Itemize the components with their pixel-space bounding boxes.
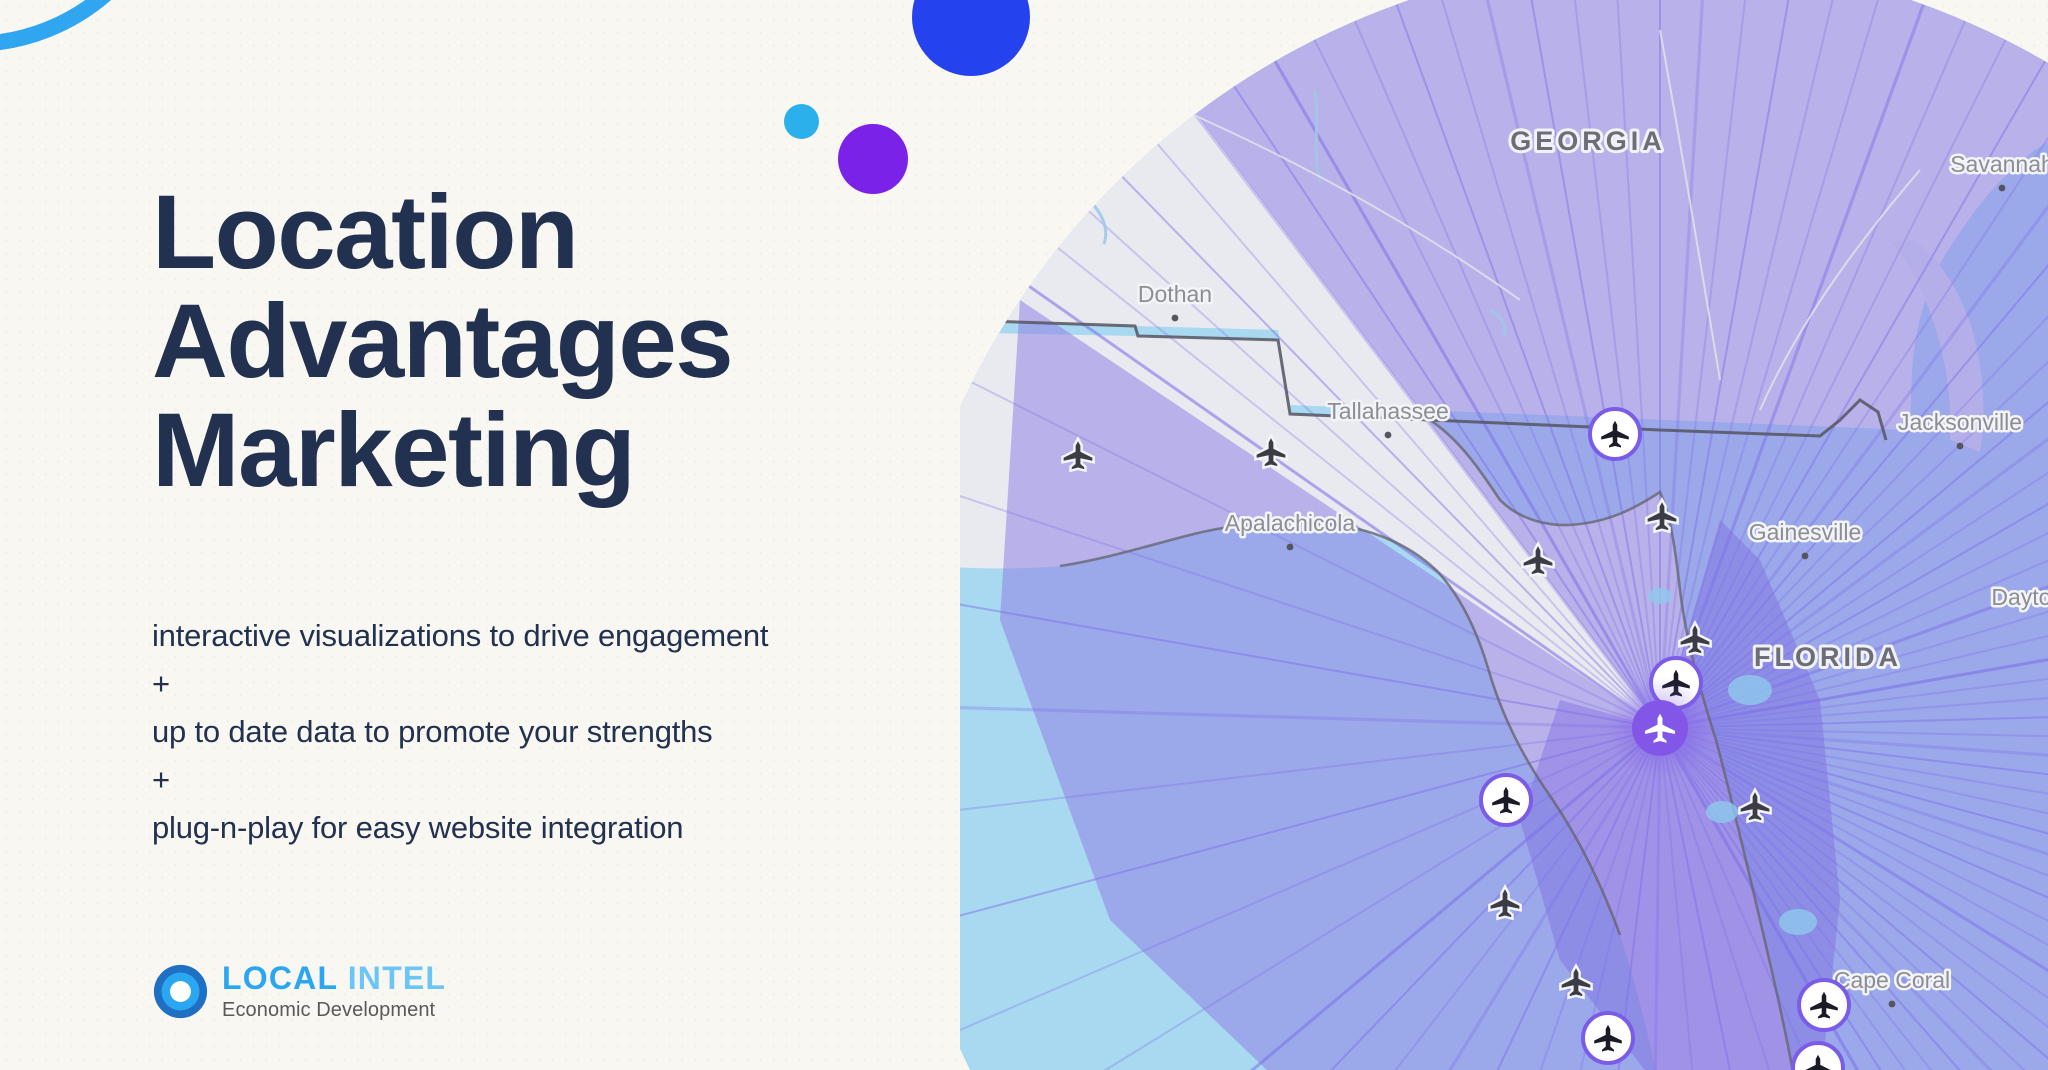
logo-word-primary: LOCAL: [222, 960, 338, 996]
city-dot: [1889, 1001, 1896, 1008]
city-dot: [1172, 315, 1179, 322]
headline-line-1: Location: [152, 178, 972, 287]
value-prop-1: interactive visualizations to drive enga…: [152, 620, 972, 651]
logo-text-block: LOCAL INTEL Economic Development: [222, 962, 446, 1020]
city-label: Cape Coral: [1834, 967, 1950, 993]
logo-tagline: Economic Development: [222, 1000, 446, 1020]
city-dot: [1287, 544, 1294, 551]
map-graphic[interactable]: GEORGIAFLORIDA SavannahDothanTallahassee…: [960, 0, 2048, 1070]
airport-marker-tampa[interactable]: [1481, 775, 1531, 825]
logo-word-secondary: INTEL: [348, 960, 446, 996]
headline-line-3: Marketing: [152, 396, 972, 505]
city-dot: [1999, 185, 2006, 192]
city-dot: [1957, 443, 1964, 450]
city-label: Savannah: [1950, 151, 2048, 177]
state-label: GEORGIA: [1510, 126, 1666, 156]
city-label: Dothan: [1138, 281, 1212, 307]
value-proposition-list: interactive visualizations to drive enga…: [152, 620, 972, 860]
logo-wordmark: LOCAL INTEL: [222, 962, 446, 994]
value-prop-3: plug-n-play for easy website integration: [152, 812, 972, 843]
airport-marker-palm-beach[interactable]: [1799, 980, 1849, 1030]
plus-separator-2: +: [152, 764, 972, 795]
page-title: Location Advantages Marketing: [152, 178, 972, 506]
city-label: Jacksonville: [1898, 409, 2022, 435]
hub-airport-marker[interactable]: [1608, 676, 1712, 780]
slide-canvas: GEORGIAFLORIDA SavannahDothanTallahassee…: [0, 0, 2048, 1070]
airport-marker-jacksonville[interactable]: [1590, 409, 1640, 459]
map-panel[interactable]: GEORGIAFLORIDA SavannahDothanTallahassee…: [960, 0, 2048, 1070]
plus-separator-1: +: [152, 668, 972, 699]
airport-marker-fort-myers[interactable]: [1583, 1013, 1633, 1063]
city-label: Gainesville: [1749, 519, 1862, 545]
content-column: Location Advantages Marketing interactiv…: [0, 0, 1010, 1070]
localintel-logo[interactable]: LOCAL INTEL Economic Development: [152, 962, 446, 1020]
value-prop-2: up to date data to promote your strength…: [152, 716, 972, 747]
city-label: Apalachicola: [1225, 510, 1356, 536]
city-dot: [1385, 432, 1392, 439]
state-label: FLORIDA: [1754, 642, 1902, 672]
headline-line-2: Advantages: [152, 287, 972, 396]
city-dot: [1802, 553, 1809, 560]
concentric-ring-icon: [152, 963, 209, 1020]
city-label: Daytona Beach: [1991, 584, 2048, 610]
city-label: Tallahassee: [1327, 398, 1448, 424]
